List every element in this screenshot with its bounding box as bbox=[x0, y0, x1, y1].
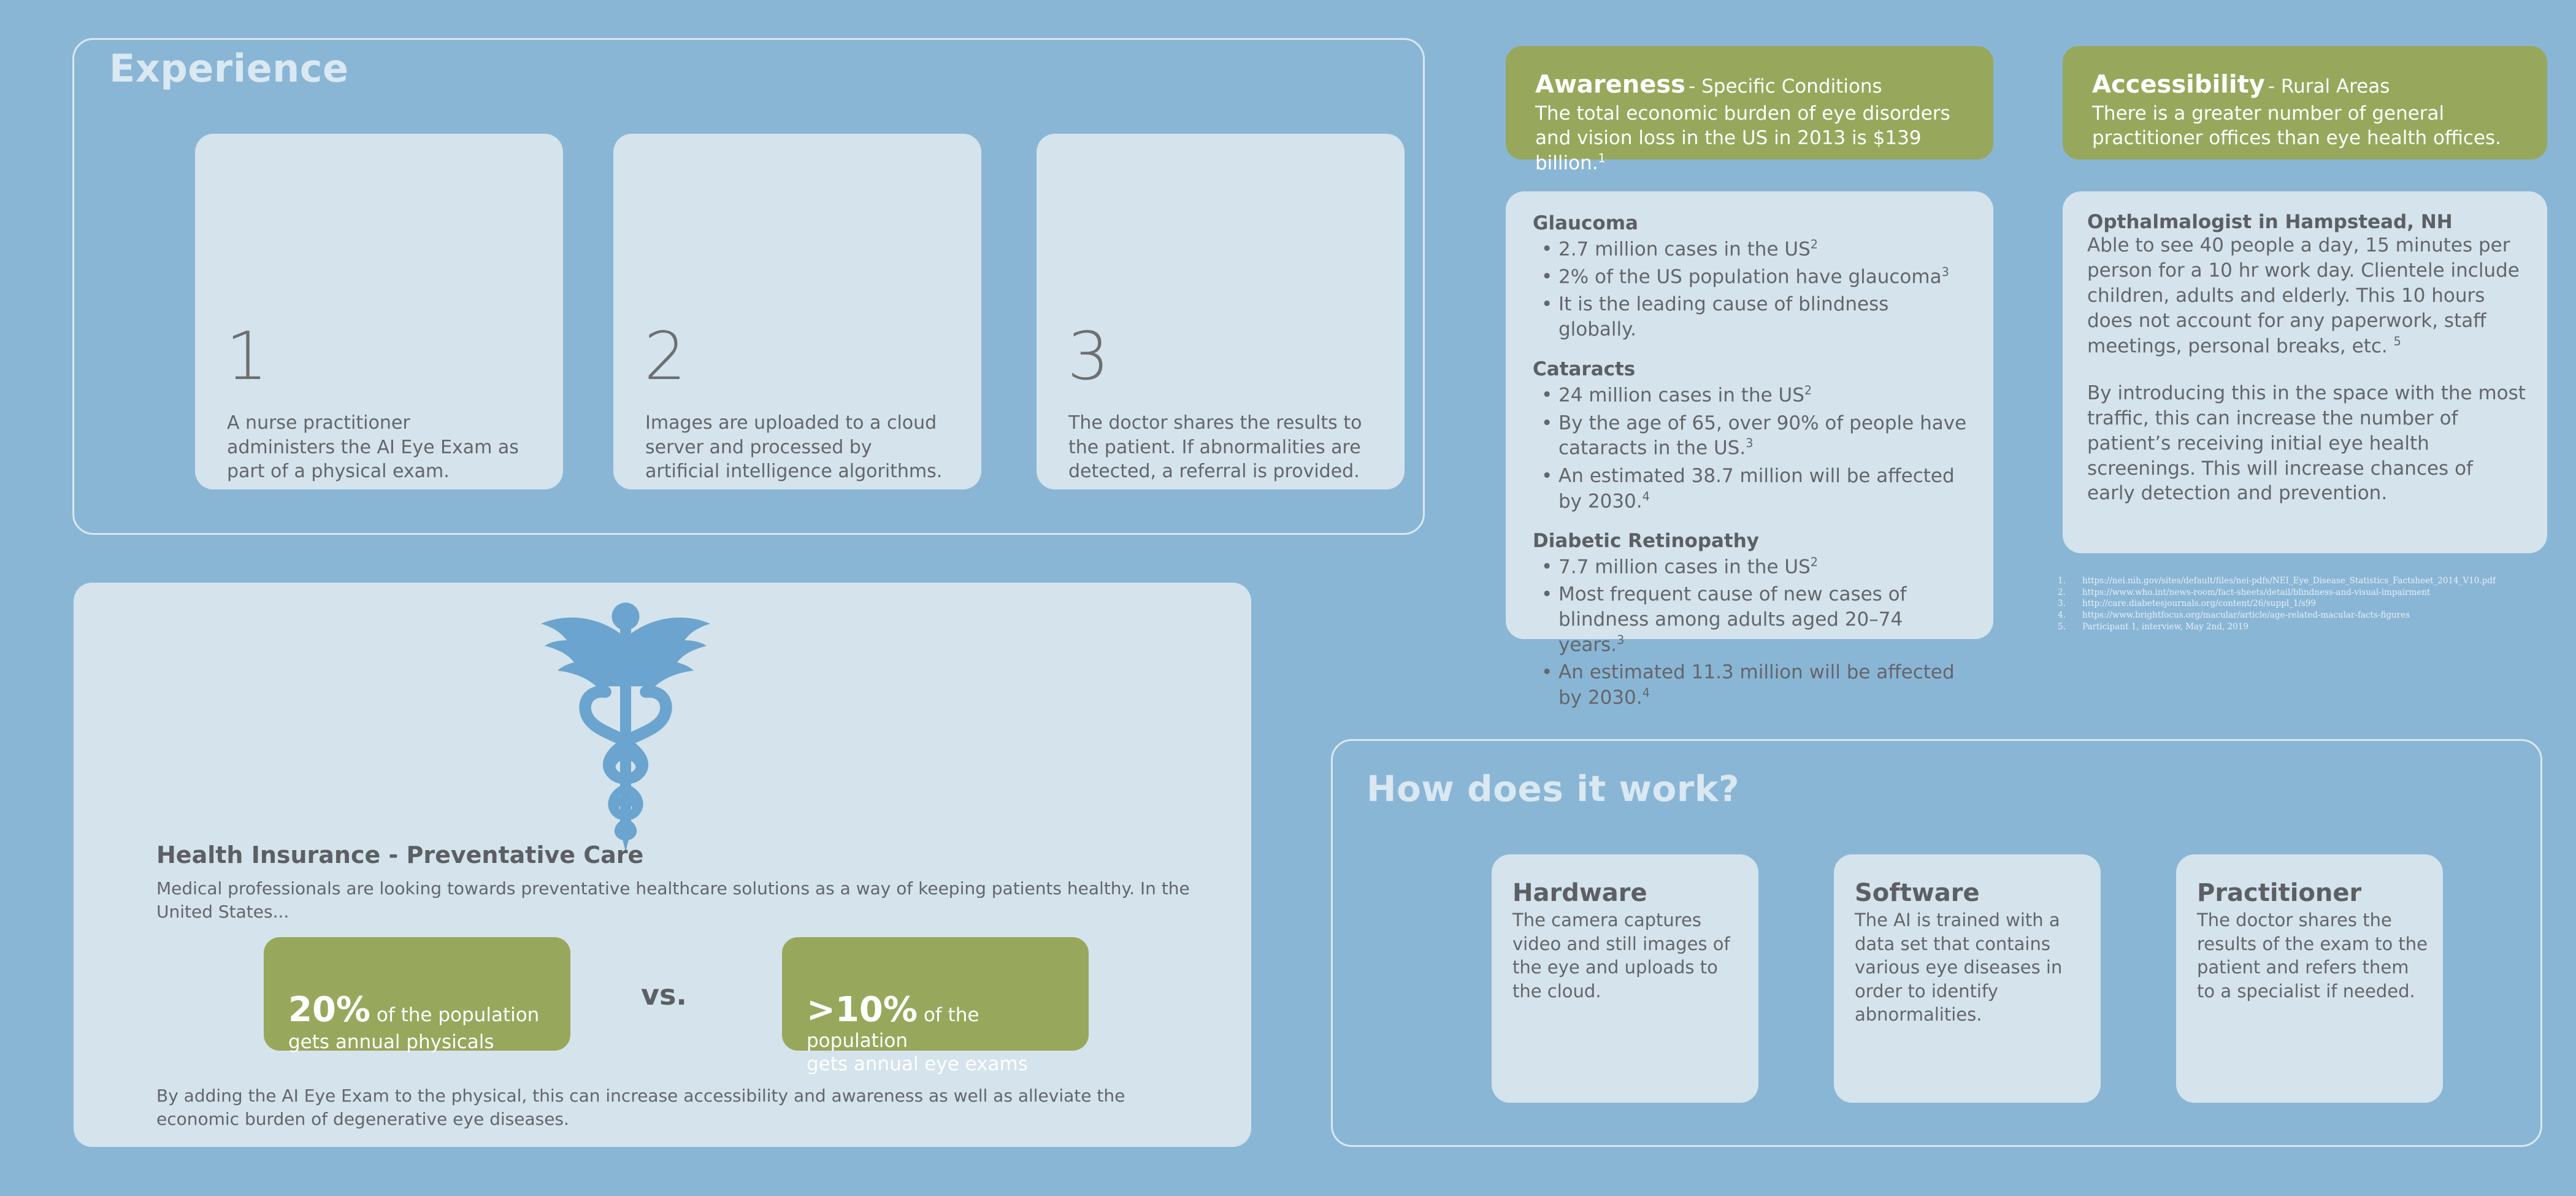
fact-group-heading: Cataracts bbox=[1533, 358, 1972, 380]
reference-item: 3.http://care.diabetesjournals.org/conte… bbox=[2058, 598, 2548, 610]
fact-bullet-sup: 2 bbox=[1811, 237, 1818, 251]
fact-bullet: By the age of 65, over 90% of people hav… bbox=[1533, 411, 1972, 461]
software-body: The AI is trained with a data set that c… bbox=[1855, 908, 2086, 1027]
stat-eye-exams-value: >10% bbox=[807, 990, 918, 1030]
hardware-body: The camera captures video and still imag… bbox=[1512, 908, 1744, 1003]
accessibility-detail-paragraph-1-sup: 5 bbox=[2394, 334, 2401, 348]
fact-bullet-sup: 4 bbox=[1643, 686, 1650, 700]
reference-number: 1. bbox=[2058, 575, 2082, 587]
stat-physicals-line2: gets annual physicals bbox=[288, 1031, 553, 1053]
reference-item: 4.https://www.brightfocus.org/macular/ar… bbox=[2058, 610, 2548, 621]
fact-bullet-sup: 3 bbox=[1746, 436, 1753, 450]
awareness-subtitle: - Specific Conditions bbox=[1689, 75, 1882, 98]
awareness-header-body-text: The total economic burden of eye disorde… bbox=[1535, 102, 1950, 174]
fact-bullet-list: 2.7 million cases in the US22% of the US… bbox=[1533, 237, 1972, 342]
fact-bullet: An estimated 11.3 million will be affect… bbox=[1533, 660, 1972, 710]
accessibility-detail-paragraph-1: Able to see 40 people a day, 15 minutes … bbox=[2087, 233, 2526, 359]
practitioner-title: Practitioner bbox=[2197, 879, 2428, 907]
practitioner-body: The doctor shares the results of the exa… bbox=[2197, 908, 2428, 1003]
how-it-works-title: How does it work? bbox=[1367, 768, 1739, 810]
fact-bullet-list: 7.7 million cases in the US2Most frequen… bbox=[1533, 554, 1972, 710]
fact-bullet-sup: 2 bbox=[1804, 383, 1812, 397]
caduceus-icon bbox=[534, 600, 718, 857]
fact-bullet: An estimated 38.7 million will be affect… bbox=[1533, 464, 1972, 514]
accessibility-detail-paragraph-2: By introducing this in the space with th… bbox=[2087, 381, 2526, 507]
reference-item: 5.Participant 1, interview, May 2nd, 201… bbox=[2058, 621, 2548, 633]
fact-bullet-list: 24 million cases in the US2By the age of… bbox=[1533, 383, 1972, 514]
stat-badge-physicals: 20% of the population gets annual physic… bbox=[264, 937, 570, 1051]
accessibility-detail-card: Opthalmalogist in Hampstead, NH Able to … bbox=[2063, 191, 2547, 553]
fact-bullet: 7.7 million cases in the US2 bbox=[1533, 554, 1972, 580]
awareness-header-card: Awareness - Specific Conditions The tota… bbox=[1506, 46, 1993, 159]
reference-text: Participant 1, interview, May 2nd, 2019 bbox=[2082, 621, 2248, 633]
how-it-works-card-practitioner: Practitioner The doctor shares the resul… bbox=[2176, 854, 2443, 1103]
vs-label: vs. bbox=[641, 978, 687, 1011]
reference-number: 5. bbox=[2058, 621, 2082, 633]
experience-step-card-1: 1 A nurse practitioner administers the A… bbox=[195, 134, 563, 489]
accessibility-header-title-row: Accessibility - Rural Areas bbox=[2092, 71, 2525, 99]
experience-step-card-2: 2 Images are uploaded to a cloud server … bbox=[613, 134, 981, 489]
fact-group-heading: Diabetic Retinopathy bbox=[1533, 530, 1972, 552]
stat-eye-exams-line1: >10% of the population bbox=[807, 990, 1071, 1052]
reference-text: http://care.diabetesjournals.org/content… bbox=[2082, 598, 2316, 610]
insurance-conclusion: By adding the AI Eye Exam to the physica… bbox=[156, 1084, 1162, 1130]
awareness-header-title-row: Awareness - Specific Conditions bbox=[1535, 71, 1971, 99]
awareness-header-body: The total economic burden of eye disorde… bbox=[1535, 101, 1971, 175]
fact-group-heading: Glaucoma bbox=[1533, 212, 1972, 234]
stat-badge-eye-exams: >10% of the population gets annual eye e… bbox=[782, 937, 1089, 1051]
insurance-intro: Medical professionals are looking toward… bbox=[156, 877, 1199, 923]
reference-text: https://www.brightfocus.org/macular/arti… bbox=[2082, 610, 2410, 621]
reference-text: https://www.who.int/news-room/fact-sheet… bbox=[2082, 587, 2430, 599]
step-text-3: The doctor shares the results to the pat… bbox=[1068, 411, 1375, 484]
reference-item: 2.https://www.who.int/news-room/fact-she… bbox=[2058, 587, 2548, 599]
insurance-panel: Health Insurance - Preventative Care Med… bbox=[74, 583, 1251, 1147]
stat-physicals-label: of the population bbox=[370, 1004, 539, 1026]
fact-bullet: Most frequent cause of new cases of blin… bbox=[1533, 582, 1972, 657]
software-title: Software bbox=[1855, 879, 2086, 907]
insurance-title: Health Insurance - Preventative Care bbox=[156, 841, 643, 868]
stat-physicals-value: 20% bbox=[288, 990, 370, 1030]
awareness-fact-groups: Glaucoma2.7 million cases in the US22% o… bbox=[1533, 212, 1972, 710]
fact-bullet: 24 million cases in the US2 bbox=[1533, 383, 1972, 408]
hardware-title: Hardware bbox=[1512, 879, 1744, 907]
awareness-facts-card: Glaucoma2.7 million cases in the US22% o… bbox=[1506, 191, 1993, 639]
reference-number: 4. bbox=[2058, 610, 2082, 621]
awareness-header-body-sup: 1 bbox=[1598, 151, 1606, 165]
how-it-works-card-hardware: Hardware The camera captures video and s… bbox=[1492, 854, 1758, 1103]
reference-text: https://nei.nih.gov/sites/default/files/… bbox=[2082, 575, 2496, 587]
accessibility-header-body: There is a greater number of general pra… bbox=[2092, 101, 2525, 151]
step-text-2: Images are uploaded to a cloud server an… bbox=[645, 411, 952, 484]
fact-bullet: 2% of the US population have glaucoma3 bbox=[1533, 264, 1972, 289]
fact-bullet-sup: 3 bbox=[1617, 633, 1624, 647]
fact-bullet-sup: 2 bbox=[1811, 555, 1818, 569]
reference-item: 1.https://nei.nih.gov/sites/default/file… bbox=[2058, 575, 2548, 587]
fact-bullet: 2.7 million cases in the US2 bbox=[1533, 237, 1972, 262]
experience-title: Experience bbox=[109, 46, 349, 91]
step-text-1: A nurse practitioner administers the AI … bbox=[227, 411, 521, 484]
step-number-1: 1 bbox=[226, 324, 268, 390]
fact-bullet-sup: 4 bbox=[1643, 489, 1650, 504]
accessibility-detail-paragraph-1-text: Able to see 40 people a day, 15 minutes … bbox=[2087, 234, 2520, 357]
accessibility-subtitle: - Rural Areas bbox=[2268, 75, 2390, 98]
stat-physicals-line1: 20% of the population bbox=[288, 990, 553, 1030]
accessibility-detail-title: Opthalmalogist in Hampstead, NH bbox=[2087, 211, 2526, 233]
step-number-2: 2 bbox=[644, 324, 686, 390]
step-number-3: 3 bbox=[1067, 324, 1110, 390]
how-it-works-card-software: Software The AI is trained with a data s… bbox=[1834, 854, 2101, 1103]
reference-number: 2. bbox=[2058, 587, 2082, 599]
references-list: 1.https://nei.nih.gov/sites/default/file… bbox=[2058, 575, 2548, 632]
reference-number: 3. bbox=[2058, 598, 2082, 610]
awareness-title: Awareness bbox=[1535, 71, 1685, 99]
accessibility-title: Accessibility bbox=[2092, 71, 2265, 99]
fact-bullet: It is the leading cause of blindness glo… bbox=[1533, 292, 1972, 342]
stat-eye-exams-line2: gets annual eye exams bbox=[807, 1053, 1071, 1075]
accessibility-header-card: Accessibility - Rural Areas There is a g… bbox=[2063, 46, 2547, 159]
fact-bullet-sup: 3 bbox=[1942, 265, 1949, 279]
infographic-page: Experience 1 A nurse practitioner admini… bbox=[0, 0, 2576, 1196]
experience-step-card-3: 3 The doctor shares the results to the p… bbox=[1037, 134, 1405, 489]
